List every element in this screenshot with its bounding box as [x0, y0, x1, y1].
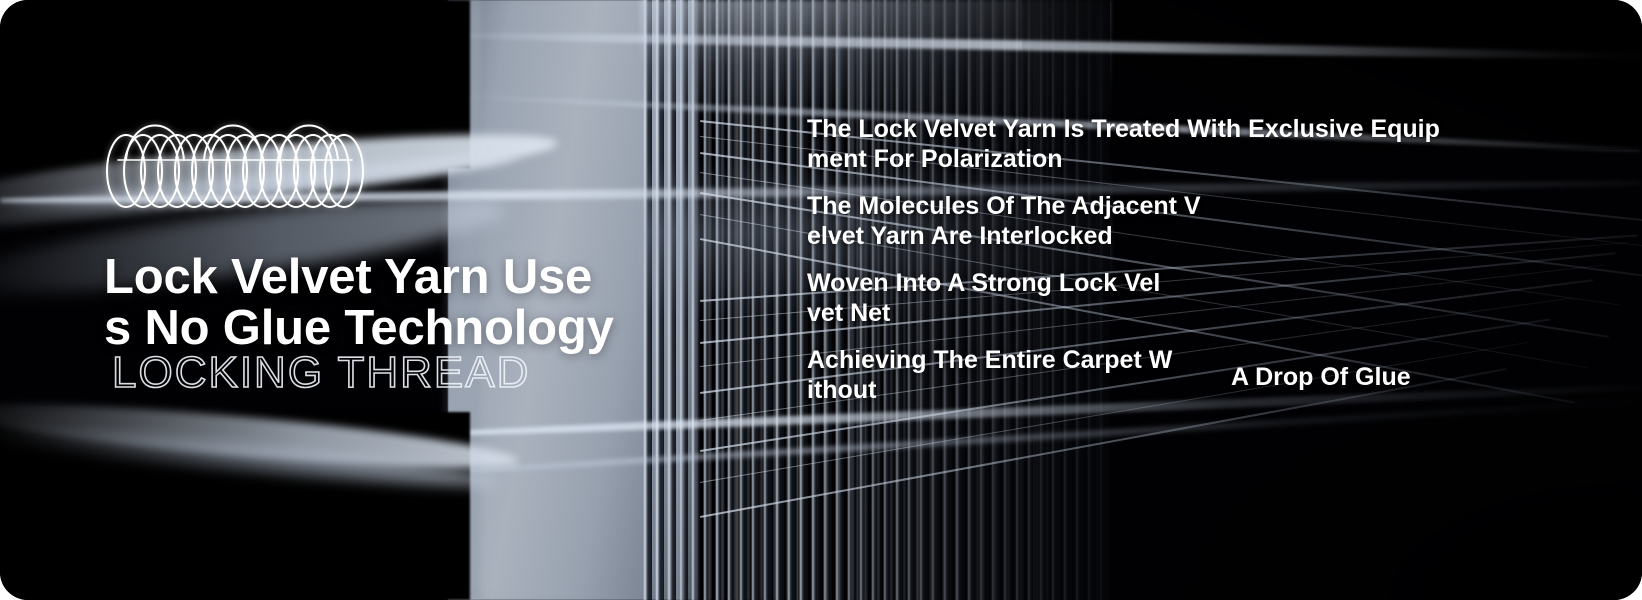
page-title: Lock Velvet Yarn Use s No Glue Technolog…	[104, 252, 704, 354]
tail-phrase: A Drop Of Glue	[1231, 362, 1411, 392]
feature-list: The Lock Velvet Yarn Is Treated With Exc…	[807, 114, 1642, 405]
banner-content: Lock Velvet Yarn Use s No Glue Technolog…	[0, 0, 1642, 600]
coil-spring-icon	[104, 108, 374, 216]
wordmark-locking-thread: LOCKING THREAD	[112, 350, 530, 396]
feature-item: Woven Into A Strong Lock Vel vet Net	[807, 268, 1642, 328]
feature-item: The Molecules Of The Adjacent V elvet Ya…	[807, 191, 1642, 251]
lock-velvet-yarn-banner: Lock Velvet Yarn Use s No Glue Technolog…	[0, 0, 1642, 600]
feature-item: The Lock Velvet Yarn Is Treated With Exc…	[807, 114, 1642, 174]
feature-item: Achieving The Entire Carpet W ithout	[807, 345, 1642, 405]
